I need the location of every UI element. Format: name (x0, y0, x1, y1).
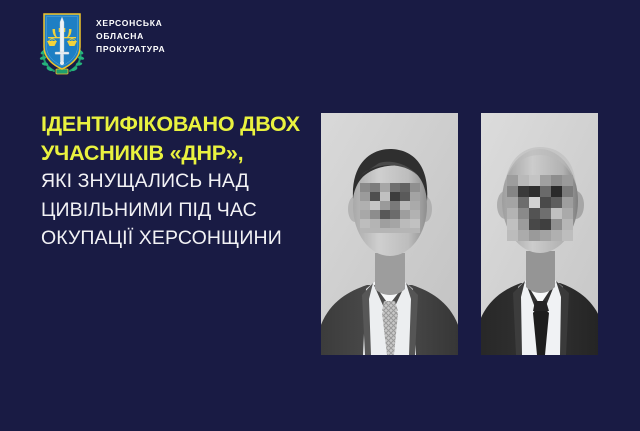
kherson-prosecutor-emblem-icon (38, 11, 86, 77)
suspect-photo-left (321, 113, 458, 355)
headline-line-2: УЧАСНИКІВ «ДНР», (41, 139, 331, 168)
headline-block: ІДЕНТИФІКОВАНО ДВОХ УЧАСНИКІВ «ДНР», ЯКІ… (41, 110, 331, 253)
organization-name: ХЕРСОНСЬКА ОБЛАСНА ПРОКУРАТУРА (96, 11, 165, 55)
headline-line-3: ЯКІ ЗНУЩАЛИСЬ НАД (41, 167, 331, 196)
headline-line-4: ЦИВІЛЬНИМИ ПІД ЧАС (41, 196, 331, 225)
suspect-portrait-left-image (321, 113, 458, 355)
organization-line-2: ОБЛАСНА (96, 31, 165, 42)
headline-line-1: ІДЕНТИФІКОВАНО ДВОХ (41, 110, 331, 139)
headline-line-5: ОКУПАЦІЇ ХЕРСОНЩИНИ (41, 224, 331, 253)
suspect-photo-right (481, 113, 598, 355)
organization-line-1: ХЕРСОНСЬКА (96, 18, 165, 29)
organization-line-3: ПРОКУРАТУРА (96, 44, 165, 55)
brand-block: ХЕРСОНСЬКА ОБЛАСНА ПРОКУРАТУРА (38, 11, 165, 77)
poster-canvas: ХЕРСОНСЬКА ОБЛАСНА ПРОКУРАТУРА ІДЕНТИФІК… (0, 0, 640, 431)
suspect-portrait-right-image (481, 113, 598, 355)
